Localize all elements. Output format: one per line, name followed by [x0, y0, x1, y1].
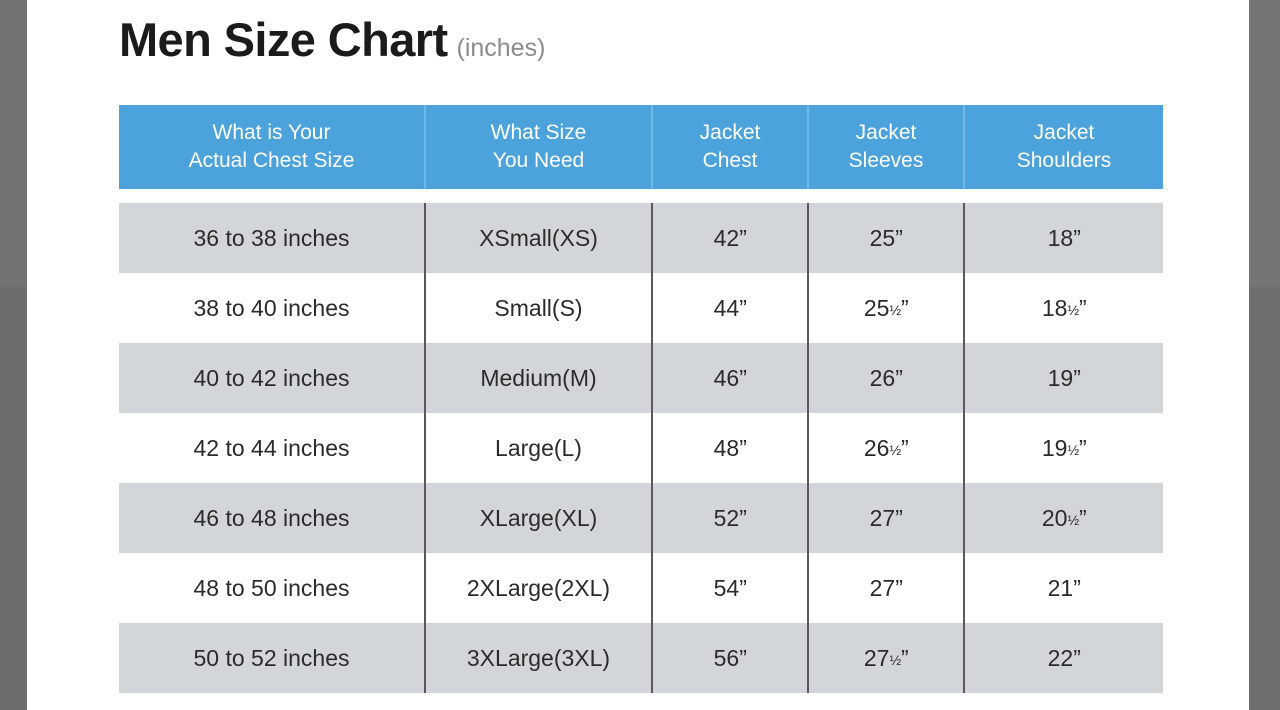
cell-jacket-shoulders: 21” [964, 553, 1163, 623]
cell-actual-chest: 40 to 42 inches [119, 343, 425, 413]
cell-jacket-chest: 52” [652, 483, 808, 553]
table-row: 38 to 40 inchesSmall(S)44”25½”18½” [119, 273, 1163, 343]
cell-jacket-sleeves: 27” [808, 483, 964, 553]
table-row: 48 to 50 inches2XLarge(2XL)54”27”21” [119, 553, 1163, 623]
cell-jacket-sleeves: 27” [808, 553, 964, 623]
cell-jacket-chest: 56” [652, 623, 808, 693]
table-row: 36 to 38 inchesXSmall(XS)42”25”18” [119, 203, 1163, 273]
header-line-2: Actual Chest Size [123, 147, 420, 175]
column-header-jacket-shoulders: Jacket Shoulders [964, 105, 1163, 189]
table-row: 40 to 42 inchesMedium(M)46”26”19” [119, 343, 1163, 413]
cell-jacket-chest: 44” [652, 273, 808, 343]
header-line-1: Jacket [657, 119, 803, 147]
page-title: Men Size Chart (inches) [119, 16, 545, 63]
header-line-2: Sleeves [813, 147, 959, 175]
table-row: 46 to 48 inchesXLarge(XL)52”27”20½” [119, 483, 1163, 553]
header-row: What is Your Actual Chest Size What Size… [119, 105, 1163, 189]
cell-jacket-sleeves: 25½” [808, 273, 964, 343]
size-chart-table: What is Your Actual Chest Size What Size… [119, 105, 1163, 693]
cell-actual-chest: 48 to 50 inches [119, 553, 425, 623]
cell-jacket-shoulders: 18½” [964, 273, 1163, 343]
table-row: 50 to 52 inches3XLarge(3XL)56”27½”22” [119, 623, 1163, 693]
cell-jacket-sleeves: 26” [808, 343, 964, 413]
cell-jacket-sleeves: 27½” [808, 623, 964, 693]
cell-actual-chest: 38 to 40 inches [119, 273, 425, 343]
cell-actual-chest: 36 to 38 inches [119, 203, 425, 273]
cell-actual-chest: 42 to 44 inches [119, 413, 425, 483]
cell-size-needed: 2XLarge(2XL) [425, 553, 652, 623]
header-line-1: Jacket [813, 119, 959, 147]
header-body-gap [119, 189, 1163, 203]
cell-size-needed: 3XLarge(3XL) [425, 623, 652, 693]
header-line-2: Shoulders [969, 147, 1159, 175]
cell-jacket-shoulders: 22” [964, 623, 1163, 693]
table-row: 42 to 44 inchesLarge(L)48”26½”19½” [119, 413, 1163, 483]
cell-size-needed: Small(S) [425, 273, 652, 343]
cell-actual-chest: 46 to 48 inches [119, 483, 425, 553]
table-body: 36 to 38 inchesXSmall(XS)42”25”18”38 to … [119, 203, 1163, 693]
cell-size-needed: XLarge(XL) [425, 483, 652, 553]
cell-jacket-chest: 54” [652, 553, 808, 623]
left-letterbox-bar [0, 0, 27, 710]
cell-jacket-chest: 42” [652, 203, 808, 273]
header-line-2: You Need [430, 147, 647, 175]
column-header-actual-chest: What is Your Actual Chest Size [119, 105, 425, 189]
header-line-1: Jacket [969, 119, 1159, 147]
cell-jacket-chest: 48” [652, 413, 808, 483]
column-header-jacket-sleeves: Jacket Sleeves [808, 105, 964, 189]
cell-jacket-shoulders: 19½” [964, 413, 1163, 483]
right-letterbox-bar [1249, 0, 1280, 710]
cell-jacket-shoulders: 19” [964, 343, 1163, 413]
header-line-1: What is Your [123, 119, 420, 147]
cell-size-needed: Large(L) [425, 413, 652, 483]
cell-jacket-shoulders: 18” [964, 203, 1163, 273]
cell-jacket-shoulders: 20½” [964, 483, 1163, 553]
cell-jacket-sleeves: 26½” [808, 413, 964, 483]
column-header-size-needed: What Size You Need [425, 105, 652, 189]
table-header: What is Your Actual Chest Size What Size… [119, 105, 1163, 189]
cell-size-needed: Medium(M) [425, 343, 652, 413]
spacer-cell [119, 189, 1163, 203]
cell-actual-chest: 50 to 52 inches [119, 623, 425, 693]
chart-canvas: Men Size Chart (inches) What is Your Act… [27, 0, 1249, 710]
cell-jacket-chest: 46” [652, 343, 808, 413]
page-title-units: (inches) [457, 36, 546, 61]
cell-jacket-sleeves: 25” [808, 203, 964, 273]
header-line-2: Chest [657, 147, 803, 175]
spacer-row [119, 189, 1163, 203]
page-title-main: Men Size Chart [119, 16, 448, 63]
cell-size-needed: XSmall(XS) [425, 203, 652, 273]
header-line-1: What Size [430, 119, 647, 147]
column-header-jacket-chest: Jacket Chest [652, 105, 808, 189]
